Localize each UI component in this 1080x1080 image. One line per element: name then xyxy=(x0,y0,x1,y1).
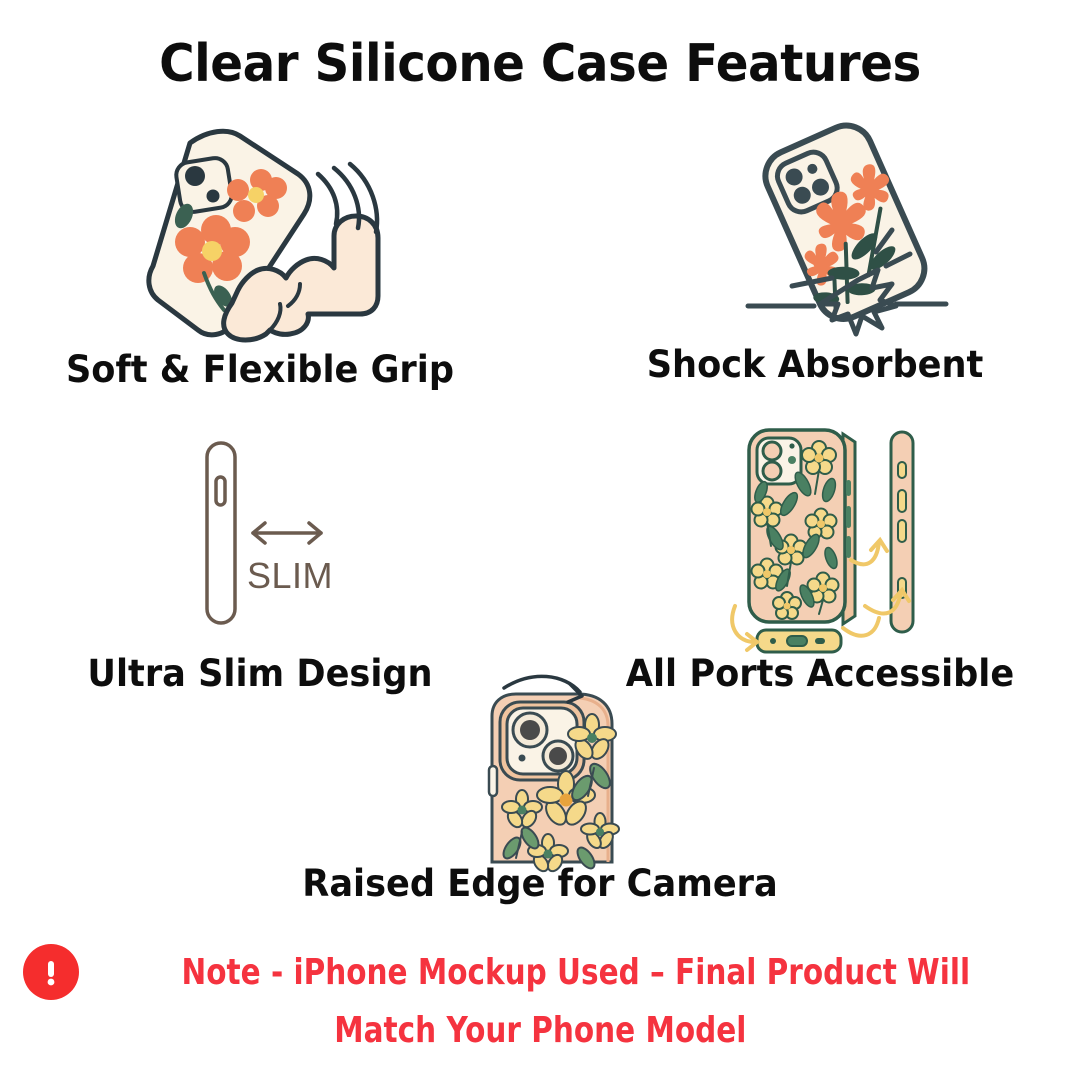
feature-label-ultra-slim-design: Ultra Slim Design xyxy=(32,652,488,695)
exclamation-circle-icon xyxy=(23,944,79,1000)
note-line-1: Note - iPhone Mockup Used – Final Produc… xyxy=(182,952,971,993)
slim-caption: SLIM xyxy=(247,555,367,597)
feature-label-soft-flexible-grip: Soft & Flexible Grip xyxy=(13,348,507,391)
phone-side-profile-slim-icon xyxy=(195,435,365,630)
phone-ports-cutouts-icon xyxy=(715,420,935,665)
feature-shock-absorbent xyxy=(740,120,950,340)
feature-label-all-ports-accessible: All Ports Accessible xyxy=(583,652,1058,695)
side-button-icon xyxy=(216,477,225,505)
phone-drop-impact-icon xyxy=(740,120,950,340)
feature-all-ports-accessible xyxy=(715,420,935,665)
raised-camera-bump-icon xyxy=(460,672,650,862)
hand-flexing-phone-case-icon xyxy=(120,118,380,343)
feature-label-raised-edge-for-camera: Raised Edge for Camera xyxy=(265,862,816,905)
feature-raised-edge-for-camera xyxy=(460,672,650,862)
feature-label-shock-absorbent: Shock Absorbent xyxy=(597,343,1034,386)
note-disclaimer: Note - iPhone Mockup Used – Final Produc… xyxy=(0,944,1080,1051)
page-title: Clear Silicone Case Features xyxy=(38,34,1042,94)
note-line-2: Match Your Phone Model xyxy=(334,1010,746,1051)
feature-soft-flexible-grip xyxy=(120,118,380,343)
infographic-page: Clear Silicone Case Features xyxy=(0,0,1080,1080)
feature-ultra-slim-design: SLIM xyxy=(195,435,365,630)
